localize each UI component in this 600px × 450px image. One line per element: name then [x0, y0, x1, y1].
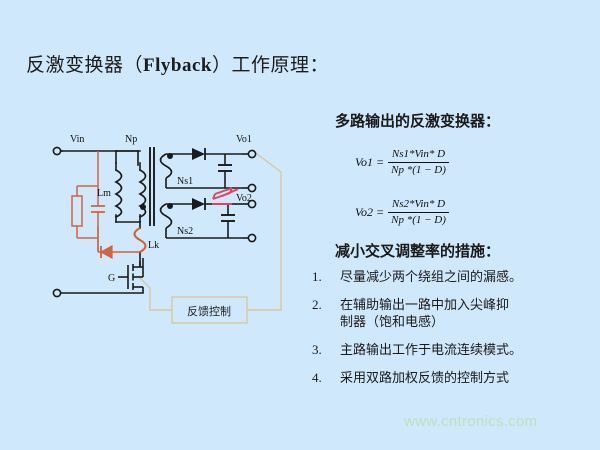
list-item-text: 采用双路加权反馈的控制方式: [340, 369, 592, 386]
heading-measures: 减小交叉调整率的措施：: [335, 240, 500, 261]
list-item-number: 3.: [312, 341, 336, 358]
secondary-1-polarity-dot: [167, 153, 173, 159]
rectifier-diode-2: [192, 198, 205, 210]
list-item: 4. 采用双路加权反馈的控制方式: [312, 369, 592, 386]
rectifier-diode-1: [192, 148, 205, 160]
label-gate: G: [108, 273, 115, 284]
primary-snubber: [72, 151, 112, 252]
list-item-number: 2.: [312, 296, 336, 313]
list-item-number: 4.: [312, 369, 336, 386]
list-item-text: 主路输出工作于电流连续模式。: [340, 341, 592, 358]
list-item-text: 在辅助输出一路中加入尖峰抑 制器（饱和电感）: [340, 296, 592, 330]
slide-canvas: 反激变换器（Flyback）工作原理：: [0, 0, 600, 450]
vo1-positive-terminal: [248, 150, 255, 157]
formula-vo1-denominator: Np *(1 − D): [388, 162, 449, 177]
label-vo1: Vo1: [236, 134, 252, 145]
vin-negative-terminal: [53, 289, 60, 296]
label-lm: Lm: [97, 188, 111, 199]
label-lk: Lk: [148, 240, 159, 251]
saturable-inductor: [212, 188, 238, 204]
heading-multi-output: 多路输出的反激变换器：: [335, 110, 500, 131]
clamp-diode: [101, 246, 128, 258]
feedback-control-label: 反馈控制: [187, 304, 231, 318]
formula-vo1: Vo1 = Ns1*Vin* D Np *(1 − D): [355, 148, 449, 176]
primary-polarity-dot: [140, 204, 146, 210]
list-item: 1. 尽量减少两个绕组之间的漏感。: [312, 268, 592, 285]
site-watermark: www.cntronics.com: [404, 413, 537, 430]
formula-vo2-lhs: Vo2 =: [355, 205, 384, 220]
feedback-wire: [138, 151, 281, 310]
list-item: 3. 主路输出工作于电流连续模式。: [312, 341, 592, 358]
vin-positive-terminal: [53, 147, 60, 154]
list-item-number: 1.: [312, 268, 336, 285]
label-ns2: Ns2: [177, 226, 193, 237]
vo1-negative-terminal: [248, 184, 255, 191]
formula-vo1-lhs: Vo1 =: [355, 155, 384, 170]
formula-vo2-numerator: Ns2*Vin* D: [389, 198, 448, 212]
formula-vo2: Vo2 = Ns2*Vin* D Np *(1 − D): [355, 198, 449, 226]
formula-vo2-denominator: Np *(1 − D): [388, 212, 449, 227]
secondary-2-polarity-dot: [167, 203, 173, 209]
label-vin: Vin: [70, 134, 84, 145]
formula-vo1-fraction: Ns1*Vin* D Np *(1 − D): [388, 148, 449, 176]
vo2-negative-terminal: [248, 234, 255, 241]
label-np: Np: [125, 134, 137, 145]
list-item-text: 尽量减少两个绕组之间的漏感。: [340, 268, 592, 285]
leakage-inductance-lk: [128, 228, 146, 252]
formula-vo2-fraction: Ns2*Vin* D Np *(1 − D): [388, 198, 449, 226]
list-item: 2. 在辅助输出一路中加入尖峰抑 制器（饱和电感）: [312, 296, 592, 330]
label-vo2: Vo2: [236, 193, 252, 204]
formula-vo1-numerator: Ns1*Vin* D: [389, 148, 448, 162]
label-ns1: Ns1: [177, 176, 193, 187]
